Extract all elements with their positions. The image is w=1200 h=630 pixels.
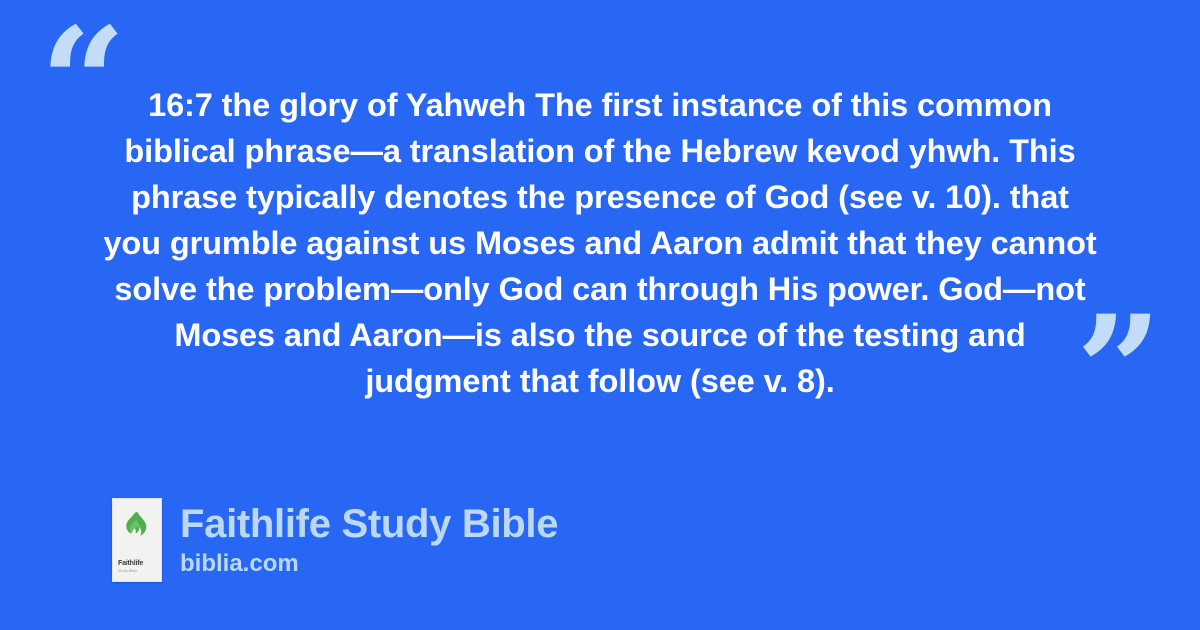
footer-title: Faithlife Study Bible	[180, 501, 558, 547]
book-cover-subtitle: Study Bible	[118, 570, 137, 574]
faithlife-flame-icon	[124, 511, 150, 541]
quote-card: “ 16:7 the glory of Yahweh The first ins…	[0, 0, 1200, 630]
quote-text: 16:7 the glory of Yahweh The first insta…	[100, 82, 1100, 404]
footer: Faithlife Study Bible Faithlife Study Bi…	[112, 498, 558, 582]
footer-text-block: Faithlife Study Bible biblia.com	[180, 501, 558, 579]
book-cover-thumbnail: Faithlife Study Bible	[112, 498, 162, 582]
book-cover-brand: Faithlife	[118, 560, 143, 567]
footer-url[interactable]: biblia.com	[180, 549, 558, 579]
